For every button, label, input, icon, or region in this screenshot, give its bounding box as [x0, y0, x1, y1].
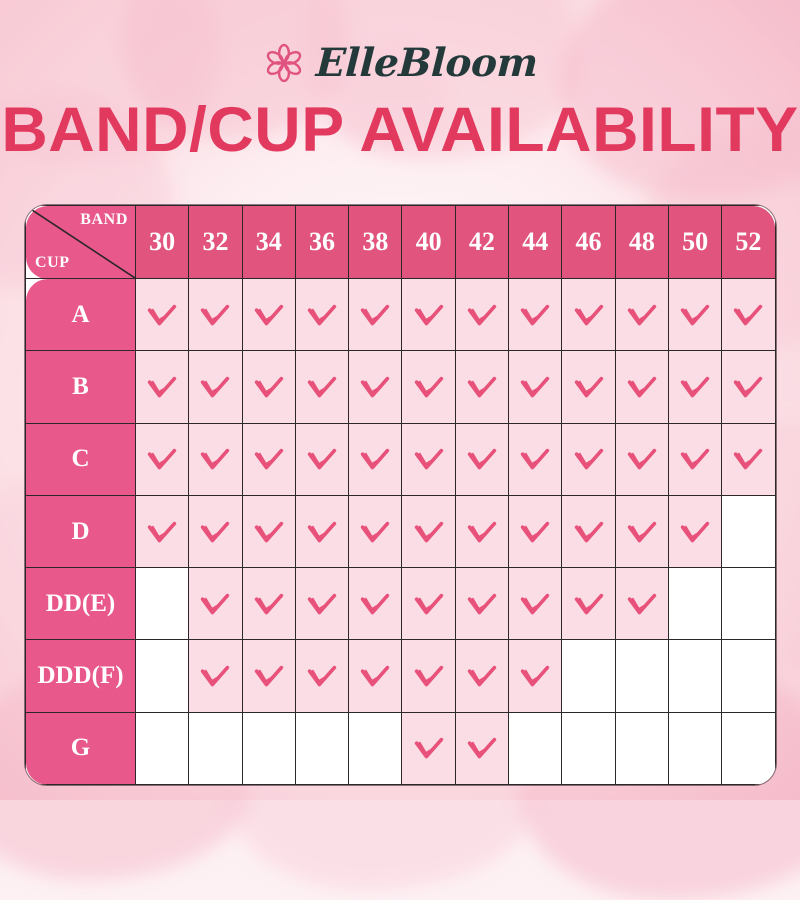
corner-header-cell: BAND CUP — [26, 206, 136, 279]
check-icon — [574, 304, 604, 326]
check-icon — [520, 448, 550, 470]
availability-cell-available[interactable] — [722, 351, 775, 423]
table-header-row: BAND CUP 303234363840424446485052 — [26, 206, 776, 279]
check-icon — [254, 448, 284, 470]
band-size-header: 40 — [402, 206, 455, 279]
availability-cell-available[interactable] — [455, 712, 508, 784]
check-icon — [360, 448, 390, 470]
availability-cell-available[interactable] — [242, 640, 295, 712]
availability-cell-unavailable[interactable] — [722, 640, 775, 712]
check-icon — [254, 304, 284, 326]
check-icon — [147, 448, 177, 470]
availability-cell-available[interactable] — [189, 351, 242, 423]
availability-cell-unavailable[interactable] — [189, 712, 242, 784]
check-icon — [414, 665, 444, 687]
availability-cell-unavailable[interactable] — [509, 712, 562, 784]
check-icon — [307, 304, 337, 326]
availability-cell-available[interactable] — [295, 423, 348, 495]
check-icon — [574, 593, 604, 615]
check-icon — [200, 304, 230, 326]
check-icon — [200, 521, 230, 543]
availability-cell-available[interactable] — [455, 495, 508, 567]
check-icon — [467, 448, 497, 470]
availability-cell-available[interactable] — [349, 351, 402, 423]
availability-cell-unavailable[interactable] — [242, 712, 295, 784]
check-icon — [414, 521, 444, 543]
check-icon — [627, 376, 657, 398]
availability-cell-available[interactable] — [722, 423, 775, 495]
availability-cell-available[interactable] — [242, 351, 295, 423]
availability-cell-unavailable[interactable] — [349, 712, 402, 784]
availability-cell-available[interactable] — [509, 495, 562, 567]
availability-cell-available[interactable] — [562, 495, 615, 567]
availability-cell-unavailable[interactable] — [615, 640, 668, 712]
check-icon — [254, 521, 284, 543]
availability-cell-available[interactable] — [402, 351, 455, 423]
availability-cell-available[interactable] — [615, 351, 668, 423]
availability-cell-available[interactable] — [295, 568, 348, 640]
check-icon — [147, 304, 177, 326]
cup-size-header: C — [26, 423, 136, 495]
table-row: G — [26, 712, 776, 784]
check-icon — [200, 448, 230, 470]
availability-cell-available[interactable] — [295, 640, 348, 712]
check-icon — [733, 304, 763, 326]
table-row: A — [26, 279, 776, 351]
availability-cell-unavailable[interactable] — [136, 712, 189, 784]
check-icon — [200, 593, 230, 615]
availability-table: BAND CUP 303234363840424446485052 ABCDDD… — [25, 205, 776, 785]
availability-cell-available[interactable] — [136, 279, 189, 351]
check-icon — [680, 448, 710, 470]
table-row: C — [26, 423, 776, 495]
availability-cell-unavailable[interactable] — [668, 712, 721, 784]
availability-cell-unavailable[interactable] — [668, 640, 721, 712]
check-icon — [520, 304, 550, 326]
check-icon — [200, 376, 230, 398]
check-icon — [414, 448, 444, 470]
availability-cell-available[interactable] — [295, 495, 348, 567]
check-icon — [414, 376, 444, 398]
check-icon — [414, 593, 444, 615]
check-icon — [520, 521, 550, 543]
check-icon — [467, 376, 497, 398]
check-icon — [307, 376, 337, 398]
corner-band-label: BAND — [80, 211, 128, 229]
availability-cell-available[interactable] — [668, 495, 721, 567]
check-icon — [360, 665, 390, 687]
availability-cell-available[interactable] — [242, 279, 295, 351]
availability-cell-available[interactable] — [615, 279, 668, 351]
availability-cell-available[interactable] — [509, 568, 562, 640]
availability-cell-available[interactable] — [722, 279, 775, 351]
availability-cell-available[interactable] — [136, 351, 189, 423]
availability-cell-available[interactable] — [242, 423, 295, 495]
availability-cell-available[interactable] — [455, 568, 508, 640]
availability-cell-available[interactable] — [668, 351, 721, 423]
availability-table-wrapper: BAND CUP 303234363840424446485052 ABCDDD… — [25, 205, 775, 776]
table-row: B — [26, 351, 776, 423]
check-icon — [680, 521, 710, 543]
corner-cup-label: CUP — [35, 254, 70, 272]
availability-cell-unavailable[interactable] — [722, 712, 775, 784]
check-icon — [574, 376, 604, 398]
check-icon — [254, 376, 284, 398]
availability-cell-available[interactable] — [295, 351, 348, 423]
availability-cell-unavailable[interactable] — [295, 712, 348, 784]
check-icon — [627, 304, 657, 326]
band-size-header: 44 — [509, 206, 562, 279]
availability-cell-unavailable[interactable] — [722, 495, 775, 567]
availability-cell-unavailable[interactable] — [562, 712, 615, 784]
band-size-header: 48 — [615, 206, 668, 279]
check-icon — [467, 521, 497, 543]
availability-cell-available[interactable] — [455, 351, 508, 423]
availability-cell-available[interactable] — [615, 568, 668, 640]
band-size-header: 32 — [189, 206, 242, 279]
cup-size-header: A — [26, 279, 136, 351]
availability-cell-unavailable[interactable] — [722, 568, 775, 640]
availability-cell-available[interactable] — [349, 640, 402, 712]
availability-cell-available[interactable] — [402, 640, 455, 712]
availability-cell-available[interactable] — [562, 568, 615, 640]
check-icon — [627, 593, 657, 615]
check-icon — [467, 593, 497, 615]
cup-size-header: D — [26, 495, 136, 567]
check-icon — [254, 593, 284, 615]
page-title: BAND/CUP AVAILABILITY — [0, 96, 800, 164]
availability-cell-available[interactable] — [349, 279, 402, 351]
check-icon — [147, 521, 177, 543]
availability-cell-available[interactable] — [189, 568, 242, 640]
check-icon — [307, 521, 337, 543]
band-size-header: 30 — [136, 206, 189, 279]
band-size-header: 34 — [242, 206, 295, 279]
check-icon — [627, 521, 657, 543]
band-size-header: 46 — [562, 206, 615, 279]
brand-logo: ElleBloom — [0, 34, 800, 92]
availability-cell-available[interactable] — [402, 279, 455, 351]
availability-cell-available[interactable] — [562, 279, 615, 351]
availability-cell-available[interactable] — [668, 423, 721, 495]
cup-size-header: DDD(F) — [26, 640, 136, 712]
check-icon — [520, 665, 550, 687]
check-icon — [147, 376, 177, 398]
table-row: DDD(F) — [26, 640, 776, 712]
check-icon — [360, 593, 390, 615]
check-icon — [200, 665, 230, 687]
check-icon — [627, 448, 657, 470]
availability-cell-available[interactable] — [509, 423, 562, 495]
availability-cell-available[interactable] — [189, 495, 242, 567]
availability-cell-available[interactable] — [455, 640, 508, 712]
check-icon — [467, 304, 497, 326]
availability-cell-unavailable[interactable] — [562, 640, 615, 712]
table-row: D — [26, 495, 776, 567]
check-icon — [574, 521, 604, 543]
availability-cell-available[interactable] — [668, 279, 721, 351]
availability-cell-available[interactable] — [189, 279, 242, 351]
availability-cell-available[interactable] — [615, 495, 668, 567]
check-icon — [307, 593, 337, 615]
check-icon — [414, 304, 444, 326]
availability-cell-available[interactable] — [349, 423, 402, 495]
check-icon — [680, 304, 710, 326]
availability-cell-unavailable[interactable] — [136, 568, 189, 640]
availability-cell-available[interactable] — [402, 712, 455, 784]
availability-cell-available[interactable] — [349, 568, 402, 640]
check-icon — [467, 737, 497, 759]
check-icon — [680, 376, 710, 398]
availability-cell-available[interactable] — [509, 640, 562, 712]
availability-cell-available[interactable] — [402, 423, 455, 495]
band-size-header: 52 — [722, 206, 775, 279]
check-icon — [414, 737, 444, 759]
availability-cell-unavailable[interactable] — [668, 568, 721, 640]
availability-cell-available[interactable] — [136, 495, 189, 567]
check-icon — [360, 521, 390, 543]
check-icon — [360, 376, 390, 398]
check-icon — [733, 376, 763, 398]
check-icon — [520, 376, 550, 398]
check-icon — [733, 448, 763, 470]
band-size-header: 38 — [349, 206, 402, 279]
availability-cell-available[interactable] — [189, 640, 242, 712]
availability-cell-available[interactable] — [242, 495, 295, 567]
availability-cell-available[interactable] — [455, 279, 508, 351]
availability-cell-available[interactable] — [509, 279, 562, 351]
cup-size-header: DD(E) — [26, 568, 136, 640]
availability-cell-available[interactable] — [455, 423, 508, 495]
flower-icon — [262, 41, 306, 85]
availability-cell-available[interactable] — [349, 495, 402, 567]
availability-cell-available[interactable] — [562, 351, 615, 423]
cup-size-header: B — [26, 351, 136, 423]
availability-cell-available[interactable] — [562, 423, 615, 495]
availability-cell-available[interactable] — [242, 568, 295, 640]
table-row: DD(E) — [26, 568, 776, 640]
availability-cell-unavailable[interactable] — [136, 640, 189, 712]
check-icon — [520, 593, 550, 615]
band-size-header: 36 — [295, 206, 348, 279]
check-icon — [467, 665, 497, 687]
check-icon — [307, 448, 337, 470]
availability-cell-available[interactable] — [189, 423, 242, 495]
check-icon — [360, 304, 390, 326]
availability-cell-available[interactable] — [615, 423, 668, 495]
availability-cell-available[interactable] — [136, 423, 189, 495]
availability-cell-unavailable[interactable] — [615, 712, 668, 784]
cup-size-header: G — [26, 712, 136, 784]
check-icon — [574, 448, 604, 470]
check-icon — [254, 665, 284, 687]
availability-cell-available[interactable] — [402, 495, 455, 567]
availability-cell-available[interactable] — [509, 351, 562, 423]
availability-cell-available[interactable] — [402, 568, 455, 640]
check-icon — [307, 665, 337, 687]
availability-cell-available[interactable] — [295, 279, 348, 351]
band-size-header: 50 — [668, 206, 721, 279]
band-size-header: 42 — [455, 206, 508, 279]
brand-name: ElleBloom — [315, 44, 539, 83]
